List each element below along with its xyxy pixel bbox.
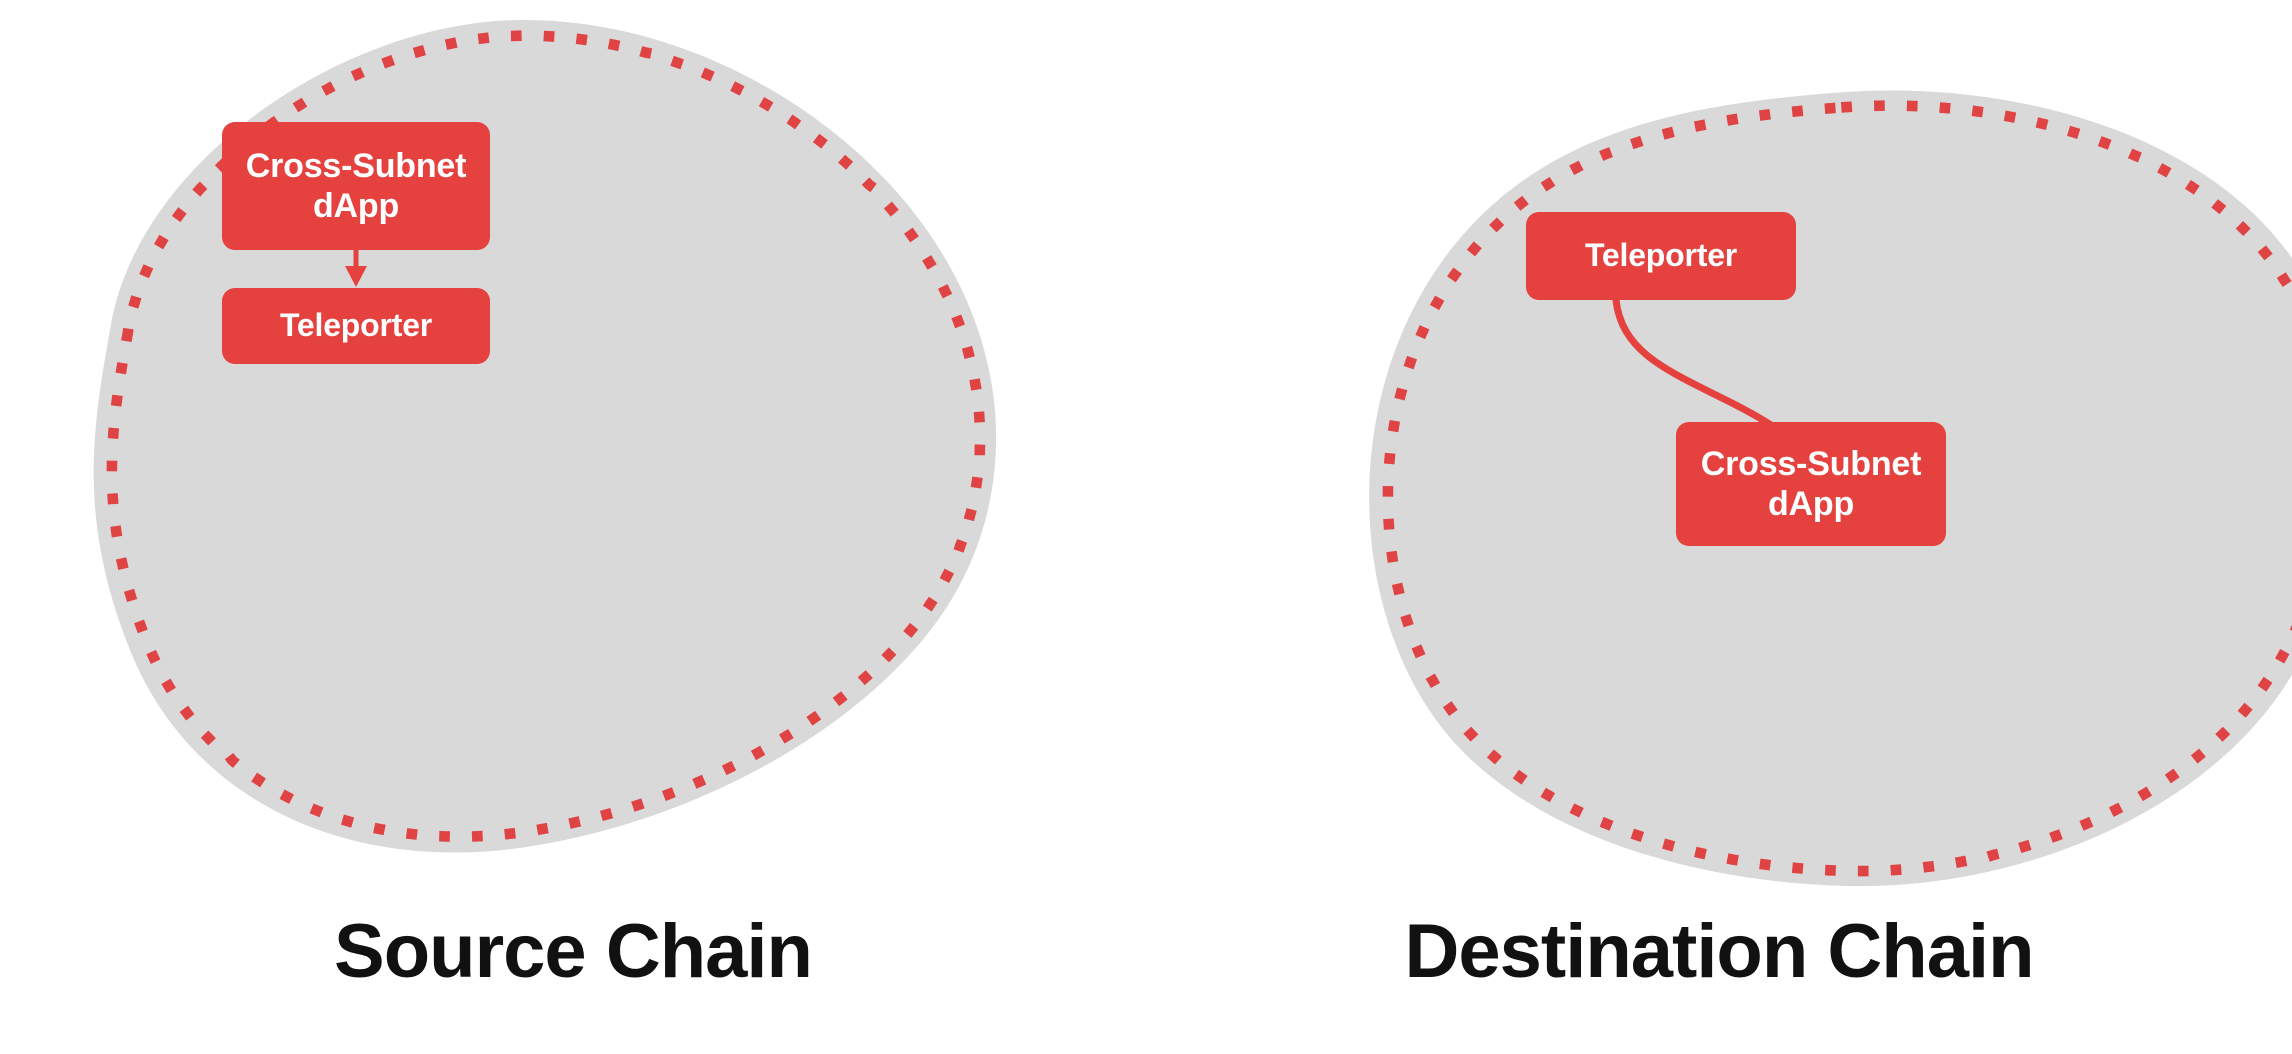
panel-destination-chain: Teleporter Cross-SubnetdApp Destination … [1146, 0, 2292, 1054]
title-source-chain: Source Chain [0, 908, 1146, 995]
node-src-cross-subnet-dapp[interactable]: Cross-SubnetdApp [222, 122, 490, 250]
node-dst-cross-subnet-dapp[interactable]: Cross-SubnetdApp [1676, 422, 1946, 546]
node-dst-teleporter-label: Teleporter [1585, 237, 1737, 275]
node-dst-dapp-label: Cross-SubnetdApp [1701, 444, 1922, 524]
diagram-canvas: Cross-SubnetdApp Teleporter Source Chain… [0, 0, 2292, 1054]
title-destination-chain: Destination Chain [1146, 908, 2292, 995]
node-src-teleporter-label: Teleporter [280, 307, 432, 345]
node-src-teleporter[interactable]: Teleporter [222, 288, 490, 364]
panel-source-chain: Cross-SubnetdApp Teleporter Source Chain [0, 0, 1146, 1054]
source-chain-blob [0, 0, 1146, 1054]
node-dst-teleporter[interactable]: Teleporter [1526, 212, 1796, 300]
node-src-dapp-label: Cross-SubnetdApp [246, 146, 467, 226]
